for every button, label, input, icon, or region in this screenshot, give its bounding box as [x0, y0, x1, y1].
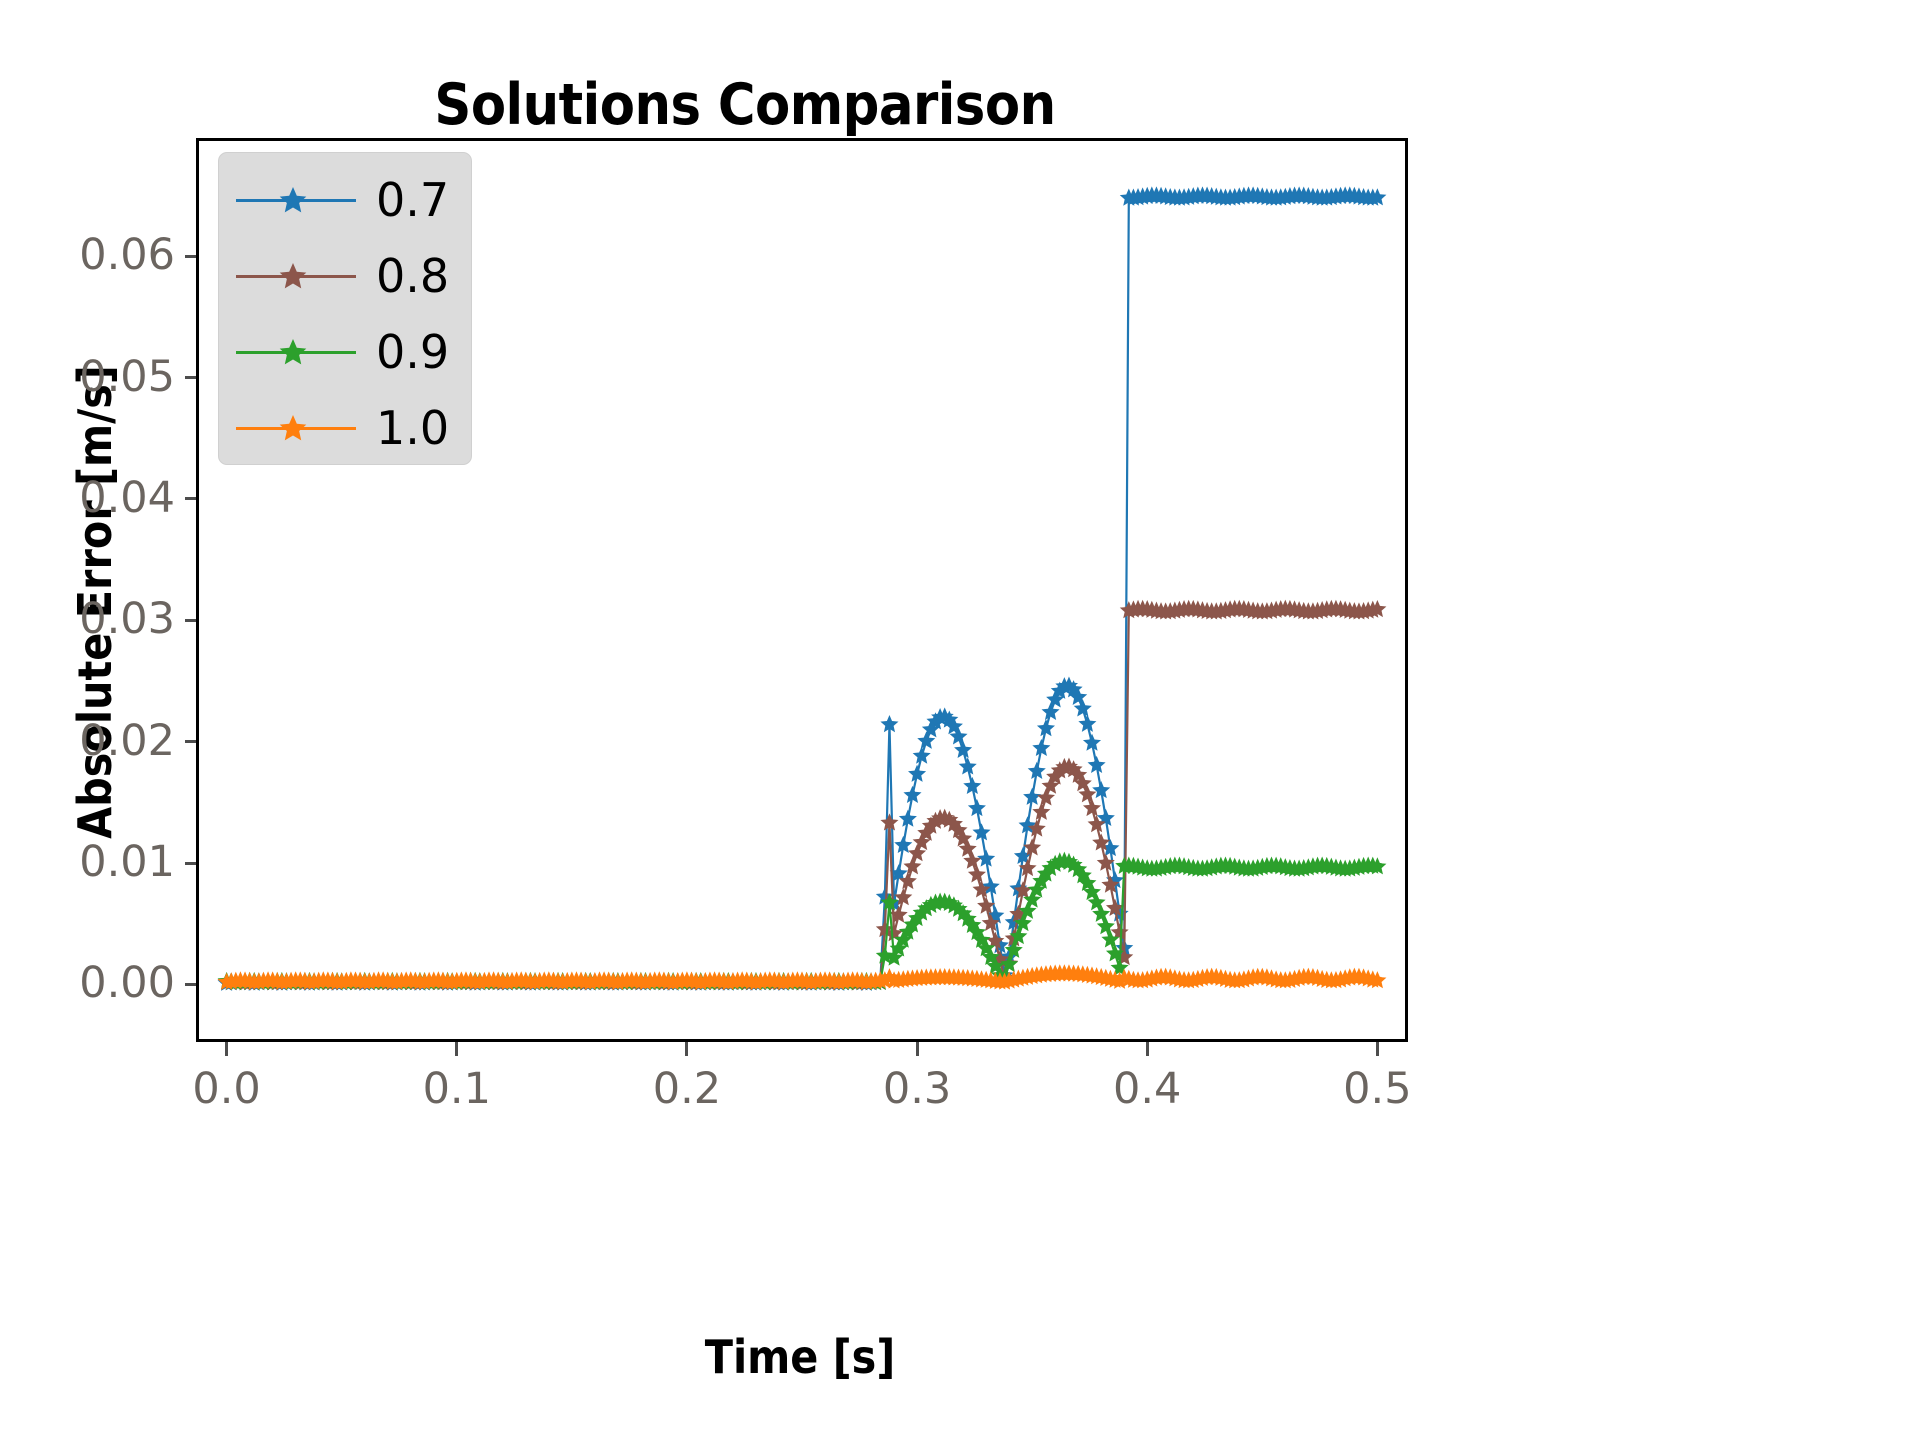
- legend-sample: [228, 180, 376, 220]
- series-1-0: [218, 964, 1387, 990]
- legend-item-0-8[interactable]: 0.8: [219, 237, 473, 315]
- x-axis-title: Time [s]: [0, 1330, 1600, 1384]
- legend-sample: [228, 256, 376, 296]
- series-line: [227, 861, 1378, 982]
- series-markers: [218, 964, 1387, 990]
- star-marker-icon: [278, 414, 308, 444]
- legend-sample: [228, 408, 376, 448]
- star-marker-icon: [278, 338, 308, 368]
- x-tick-label: 0.4: [1067, 1064, 1227, 1114]
- legend-item-1-0[interactable]: 1.0: [219, 389, 473, 467]
- chart-canvas: Solutions Comparison Absolute Error [m/s…: [0, 0, 1920, 1440]
- x-tick-mark: [225, 1042, 228, 1056]
- legend-box: 0.70.80.91.0: [218, 152, 472, 465]
- y-tick-label: 0.03: [25, 594, 175, 644]
- x-tick-mark: [1376, 1042, 1379, 1056]
- legend-sample: [228, 332, 376, 372]
- x-tick-label: 0.1: [377, 1064, 537, 1114]
- y-tick-label: 0.04: [25, 473, 175, 523]
- y-tick-label: 0.06: [25, 230, 175, 280]
- legend-item-0-9[interactable]: 0.9: [219, 313, 473, 391]
- series-0-8: [218, 600, 1387, 991]
- y-tick-label: 0.02: [25, 716, 175, 766]
- x-tick-label: 0.5: [1297, 1064, 1457, 1114]
- x-tick-mark: [916, 1042, 919, 1056]
- x-tick-mark: [455, 1042, 458, 1056]
- x-tick-mark: [685, 1042, 688, 1056]
- y-tick-label: 0.00: [25, 958, 175, 1008]
- legend-label: 0.9: [376, 329, 464, 375]
- y-tick-label: 0.05: [25, 352, 175, 402]
- series-line: [227, 609, 1378, 983]
- x-tick-label: 0.0: [147, 1064, 307, 1114]
- legend-label: 0.7: [376, 177, 464, 223]
- legend-label: 1.0: [376, 405, 464, 451]
- legend-item-0-7[interactable]: 0.7: [219, 161, 473, 239]
- y-tick-label: 0.01: [25, 837, 175, 887]
- series-markers: [218, 600, 1387, 991]
- star-marker-icon: [278, 186, 308, 216]
- star-marker-icon: [278, 262, 308, 292]
- x-tick-label: 0.2: [607, 1064, 767, 1114]
- x-tick-mark: [1146, 1042, 1149, 1056]
- x-tick-label: 0.3: [837, 1064, 997, 1114]
- legend-label: 0.8: [376, 253, 464, 299]
- chart-title: Solutions Comparison: [0, 72, 1490, 138]
